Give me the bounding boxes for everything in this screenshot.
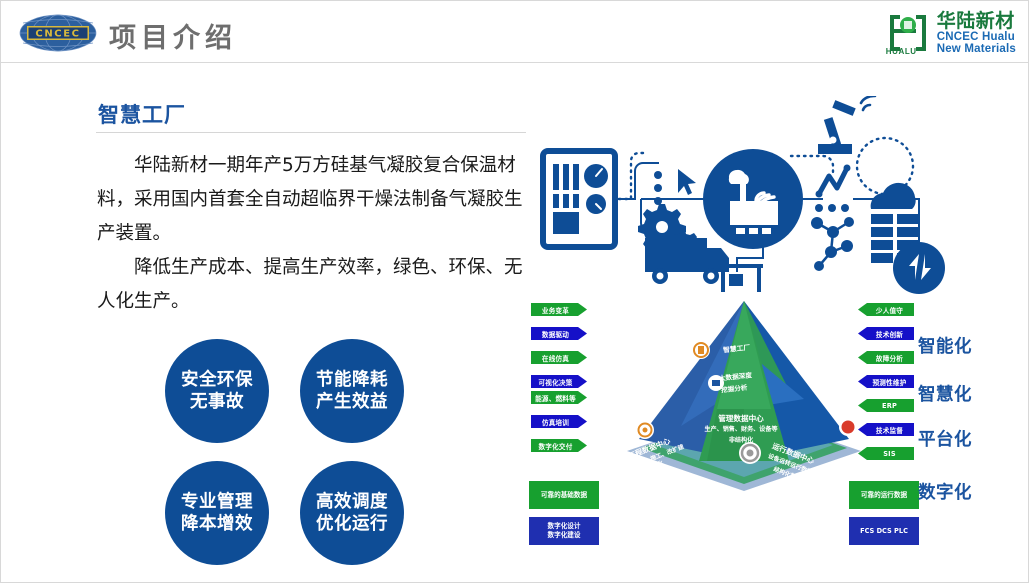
level-label-platform: 平台化 (918, 426, 972, 451)
data-transfer-icon (893, 242, 945, 294)
left-tag-4[interactable]: 可视化决策 (531, 375, 587, 388)
cloud-icon (871, 183, 916, 209)
wifi-signal-icon (861, 96, 875, 110)
left-tag-3[interactable]: 在线仿真 (531, 351, 587, 364)
right-box-2[interactable]: FCS DCS PLC (849, 517, 919, 545)
network-nodes-icon (811, 217, 854, 271)
left-box-2[interactable]: 数字化设计 数字化建设 (529, 517, 599, 545)
highlight-circle-1-line1: 安全环保 (181, 369, 253, 391)
body-paragraph-2: 降低生产成本、提高生产效率，绿色、环保、无人化生产。 (97, 251, 527, 319)
left-tag-2[interactable]: 数据驱动 (531, 327, 587, 340)
tablet-dashboard-icon (543, 151, 615, 247)
industry-4-0-illustration (523, 96, 1028, 294)
highlight-circle-4[interactable]: 高效调度 优化运行 (300, 461, 404, 565)
right-box-1[interactable]: 可靠的运行数据 (849, 481, 919, 509)
right-box-2-line1: FCS DCS PLC (860, 527, 908, 536)
level-label-intelligent: 智能化 (918, 333, 972, 358)
highlight-circle-4-line2: 优化运行 (316, 513, 388, 535)
body-paragraph-1: 华陆新材一期年产5万方硅基气凝胶复合保温材料，采用国内首套全自动超临界干燥法制备… (97, 149, 527, 251)
highlight-circle-3-line1: 专业管理 (181, 491, 253, 513)
right-tag-1[interactable]: 少人值守 (858, 303, 914, 316)
left-tag-5[interactable]: 能源、燃料等 (531, 391, 587, 404)
right-tag-7[interactable]: SIS (858, 447, 914, 460)
level-label-digital: 数字化 (918, 479, 972, 504)
right-tag-3[interactable]: 故障分析 (858, 351, 914, 364)
left-tag-7[interactable]: 数字化交付 (531, 439, 587, 452)
highlight-circle-1[interactable]: 安全环保 无事故 (165, 339, 269, 443)
highlight-circle-4-line1: 高效调度 (316, 491, 388, 513)
right-tag-5[interactable]: ERP (858, 399, 914, 412)
left-box-1-line1: 可靠的基础数据 (541, 491, 587, 500)
right-tag-2[interactable]: 技术创新 (858, 327, 914, 340)
highlight-circle-3[interactable]: 专业管理 降本增效 (165, 461, 269, 565)
hualu-brand-cn: 华陆新材 (937, 11, 1016, 31)
highlight-circle-3-line2: 降本增效 (181, 513, 253, 535)
page-title: 项目介绍 (109, 16, 237, 55)
hualu-brand-en-line2: New Materials (937, 43, 1016, 55)
highlight-circle-2[interactable]: 节能降耗 产生效益 (300, 339, 404, 443)
hualu-logo-mark: HUALU (886, 11, 930, 55)
highlight-circle-1-line2: 无事故 (190, 391, 244, 413)
highlight-circle-2-line1: 节能降耗 (316, 369, 388, 391)
right-box-1-line1: 可靠的运行数据 (861, 491, 907, 500)
pyramid-graphic (619, 291, 869, 491)
robot-arm-icon (818, 100, 856, 154)
cursor-icon (678, 169, 696, 195)
factory-wifi-circle-icon (703, 149, 803, 249)
hualu-logo: HUALU 华陆新材 CNCEC Hualu New Materials (886, 11, 1016, 56)
body-text-block: 华陆新材一期年产5万方硅基气凝胶复合保温材料，采用国内首套全自动超临界干燥法制备… (97, 149, 527, 319)
cncec-logo-text: CNCEC (35, 29, 80, 40)
hualu-logo-text-block: 华陆新材 CNCEC Hualu New Materials (937, 11, 1016, 56)
left-box-2-line1: 数字化设计 (548, 522, 581, 531)
right-tag-4[interactable]: 预测性维护 (858, 375, 914, 388)
slide-header: CNCEC 项目介绍 HUALU 华陆新材 CNCEC Hualu New Ma… (1, 1, 1029, 63)
section-title: 智慧工厂 (98, 99, 186, 129)
truck-icon (645, 238, 729, 284)
highlight-circle-2-line2: 产生效益 (316, 391, 388, 413)
right-tag-6[interactable]: 技术监督 (858, 423, 914, 436)
left-tag-6[interactable]: 仿真培训 (531, 415, 587, 428)
left-box-1[interactable]: 可靠的基础数据 (529, 481, 599, 509)
level-label-smart: 智慧化 (918, 381, 972, 406)
left-box-2-line2: 数字化建设 (548, 531, 581, 540)
bullet-dots-icon (654, 171, 662, 205)
smart-factory-pyramid-diagram: 智慧工厂 大数据深度 挖掘分析 管理数据中心 生产、销售、财务、设备等 非结构化… (523, 291, 1028, 556)
ellipsis-dots-icon (815, 204, 849, 212)
title-divider (96, 132, 526, 133)
hualu-brand-en-line1: CNCEC Hualu (937, 31, 1016, 43)
slide-canvas: CNCEC 项目介绍 HUALU 华陆新材 CNCEC Hualu New Ma… (0, 0, 1029, 583)
hualu-logo-subtext: HUALU (886, 47, 917, 56)
cncec-logo: CNCEC (19, 14, 97, 52)
left-tag-1[interactable]: 业务变革 (531, 303, 587, 316)
